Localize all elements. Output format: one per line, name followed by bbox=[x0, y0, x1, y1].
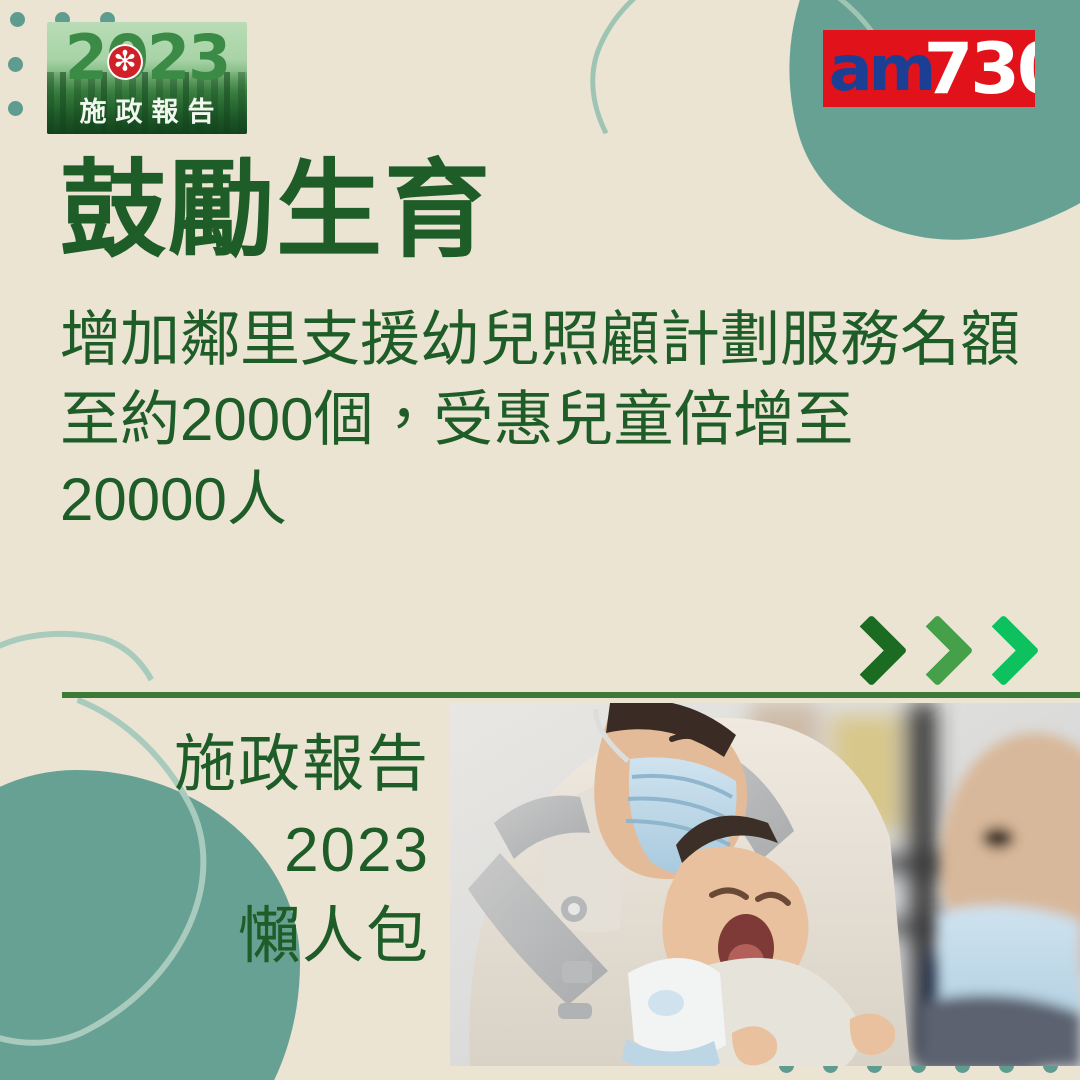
body-line-1: 增加鄰里支援幼兒照顧計劃服務名額 bbox=[60, 300, 1060, 380]
chevron-arrows bbox=[840, 614, 1032, 688]
decorative-dot bbox=[8, 57, 23, 72]
chevron-1-icon bbox=[840, 614, 900, 688]
series-label-line-2: 2023 bbox=[60, 808, 430, 894]
chevron-3-icon bbox=[972, 614, 1032, 688]
divider bbox=[62, 692, 1080, 698]
body-line-3: 20000人 bbox=[60, 460, 1060, 540]
bauhinia-emblem-icon bbox=[107, 44, 143, 80]
am730-logo: am 730 bbox=[823, 30, 1035, 107]
badge-label: 施政報告 bbox=[47, 98, 247, 128]
am730-logo-number: 730 bbox=[924, 34, 1035, 104]
photo bbox=[450, 703, 1080, 1066]
body-copy: 增加鄰里支援幼兒照顧計劃服務名額 至約2000個，受惠兒童倍增至 20000人 bbox=[60, 300, 1060, 540]
body-line-2: 至約2000個，受惠兒童倍增至 bbox=[60, 380, 1060, 460]
page-title: 鼓勵生育 bbox=[60, 155, 492, 267]
chevron-2-icon bbox=[906, 614, 966, 688]
infographic-card: 2023 施政報告 am 730 鼓勵生育 增加鄰里支援幼兒照顧計劃服務名額 至… bbox=[0, 0, 1080, 1080]
photo-illustration bbox=[450, 703, 1080, 1066]
badge-year: 2023 bbox=[47, 25, 247, 91]
series-label-line-3: 懶人包 bbox=[60, 894, 430, 980]
series-label-line-1: 施政報告 bbox=[60, 722, 430, 808]
decorative-dot bbox=[10, 12, 25, 27]
am730-logo-am: am bbox=[823, 38, 932, 100]
series-label: 施政報告 2023 懶人包 bbox=[60, 722, 430, 980]
policy-address-badge: 2023 施政報告 bbox=[47, 22, 247, 134]
decorative-dot bbox=[8, 101, 23, 116]
